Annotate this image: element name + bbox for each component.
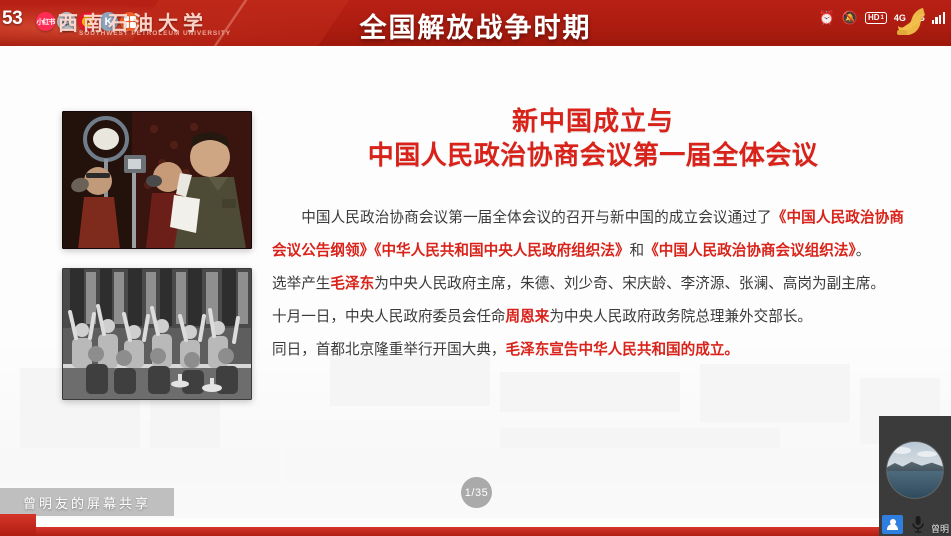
slide-body-text: 中国人民政治协商会议第一届全体会议的召开与新中国的成立会议通过了《中国人民政治协…: [272, 201, 904, 366]
presentation-header-bar: 53 小红书 ⚙ K 西南石油大学 SOUTHWEST PETROLEUM UN…: [0, 0, 951, 46]
body-text: 。: [856, 242, 871, 259]
participants-button[interactable]: [882, 515, 903, 534]
slide-title-line2: 中国人民政治协商会议第一届全体会议: [278, 140, 908, 174]
photo-delegates-vote: [62, 268, 252, 400]
network-5g-label: 5G: [913, 13, 925, 23]
microphone-icon: [911, 515, 925, 533]
screen-share-banner: 曾明友的屏幕共享: [0, 488, 174, 516]
highlighted-text: 周恩来: [506, 308, 550, 325]
microphone-button[interactable]: [908, 513, 928, 535]
signal-bars-icon: [932, 12, 945, 24]
body-text: 十月一日，中央人民政府委员会任命: [272, 308, 506, 325]
body-text: 为中央人民政府主席，朱德、刘少奇、宋庆龄、李济源、张澜、高岗为副主席。: [374, 275, 885, 292]
hd-badge-label: HD: [868, 14, 880, 22]
alarm-clock-icon: ⏰: [819, 11, 835, 24]
body-paragraph: 中国人民政治协商会议第一届全体会议的召开与新中国的成立会议通过了《中国人民政治协…: [272, 201, 904, 267]
hd-badge: HD1: [865, 12, 887, 24]
bell-muted-icon: 🔕: [842, 11, 858, 24]
network-4g-label: 4G: [894, 13, 906, 23]
participant-name: 曾明: [931, 522, 949, 535]
slide-bottom-accent-bar: [0, 527, 951, 536]
avatar: [887, 442, 943, 498]
body-text: 中国人民政治协商会议第一届全体会议的召开与新中国的成立会议通过了: [301, 209, 772, 226]
slide-canvas: 新中国成立与 中国人民政治协商会议第一届全体会议 中国人民政治协商会议第一届全体…: [0, 46, 951, 536]
slide-title: 新中国成立与 中国人民政治协商会议第一届全体会议: [278, 106, 908, 174]
highlighted-text: 毛泽东: [330, 275, 374, 292]
header-title: 全国解放战争时期: [0, 6, 951, 45]
hd-badge-sup: 1: [881, 15, 884, 21]
highlighted-text: 毛泽东宣告中华人民共和国的成立。: [506, 341, 740, 358]
status-right-icons: ⏰ 🔕 HD1 4G 5G: [819, 11, 945, 24]
body-text: 同日，首都北京隆重举行开国大典，: [272, 341, 506, 358]
page-indicator: 1/35: [461, 477, 492, 508]
body-paragraph: 十月一日，中央人民政府委员会任命周恩来为中央人民政府政务院总理兼外交部长。: [272, 300, 904, 333]
slide-bottom-red-stub: [0, 514, 36, 536]
body-text: 选举产生: [272, 275, 330, 292]
photo-proclamation-speech: [62, 111, 252, 249]
slide-title-line1: 新中国成立与: [278, 106, 908, 140]
body-text: 为中央人民政府政务院总理兼外交部长。: [549, 308, 812, 325]
body-paragraph: 选举产生毛泽东为中央人民政府主席，朱德、刘少奇、宋庆龄、李济源、张澜、高岗为副主…: [272, 267, 904, 300]
screen-share-view: 53 小红书 ⚙ K 西南石油大学 SOUTHWEST PETROLEUM UN…: [0, 0, 951, 536]
highlighted-text: 《中国人民政治协商会议组织法》: [644, 242, 856, 259]
body-paragraph: 同日，首都北京隆重举行开国大典，毛泽东宣告中华人民共和国的成立。: [272, 333, 904, 366]
person-icon-body: [887, 524, 898, 530]
body-text: 和: [630, 242, 645, 259]
